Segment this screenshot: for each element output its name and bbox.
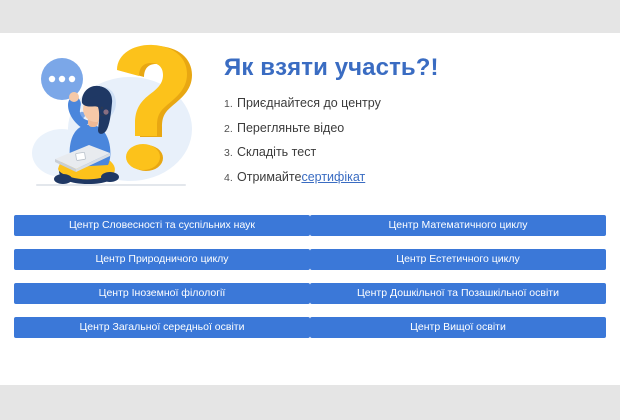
center-button-matematychnoho[interactable]: Центр Математичного циклу	[310, 215, 606, 236]
step-item: 2. Перегляньте відео	[224, 122, 604, 135]
hero-section: Як взяти участь?! 1. Приєднайтеся до цен…	[0, 33, 620, 205]
content-card: Як взяти участь?! 1. Приєднайтеся до цен…	[0, 33, 620, 385]
centers-row: Центр Природничого циклу Центр Естетично…	[0, 249, 620, 270]
step-number: 1.	[224, 99, 237, 110]
center-button-estetychnoho[interactable]: Центр Естетичного циклу	[310, 249, 606, 270]
step-number: 4.	[224, 173, 237, 184]
certificate-link[interactable]: сертифікат	[301, 171, 365, 184]
center-button-zahalnoi-serednoi[interactable]: Центр Загальної середньої освіти	[14, 317, 310, 338]
centers-row: Центр Словесності та суспільних наук Цен…	[0, 215, 620, 236]
hero-text-column: Як взяти участь?! 1. Приєднайтеся до цен…	[224, 55, 604, 195]
step-item: 3. Складіть тест	[224, 146, 604, 159]
page-title: Як взяти участь?!	[224, 55, 604, 81]
step-item: 1. Приєднайтеся до центру	[224, 97, 604, 110]
step-number: 2.	[224, 124, 237, 135]
steps-list: 1. Приєднайтеся до центру 2. Перегляньте…	[224, 97, 604, 183]
step-text: Отримайте	[237, 171, 301, 184]
center-button-doshkilnoi-pozashkilnoi[interactable]: Центр Дошкільної та Позашкільної освіти	[310, 283, 606, 304]
step-item: 4. Отримайте сертифікат	[224, 171, 604, 184]
step-number: 3.	[224, 148, 237, 159]
centers-row: Центр Іноземної філології Центр Дошкільн…	[0, 283, 620, 304]
center-button-pryrodnychoho[interactable]: Центр Природничого циклу	[14, 249, 310, 270]
hero-illustration	[18, 41, 203, 203]
step-text: Перегляньте відео	[237, 122, 344, 135]
center-button-slovesnosti[interactable]: Центр Словесності та суспільних наук	[14, 215, 310, 236]
floor-line	[36, 184, 186, 186]
step-text: Приєднайтеся до центру	[237, 97, 381, 110]
centers-row: Центр Загальної середньої освіти Центр В…	[0, 317, 620, 338]
page-root: Як взяти участь?! 1. Приєднайтеся до цен…	[0, 0, 620, 420]
centers-button-grid: Центр Словесності та суспільних наук Цен…	[0, 215, 620, 351]
center-button-vyshchoi-osvity[interactable]: Центр Вищої освіти	[310, 317, 606, 338]
step-text: Складіть тест	[237, 146, 316, 159]
center-button-inozemnoi-filolohii[interactable]: Центр Іноземної філології	[14, 283, 310, 304]
